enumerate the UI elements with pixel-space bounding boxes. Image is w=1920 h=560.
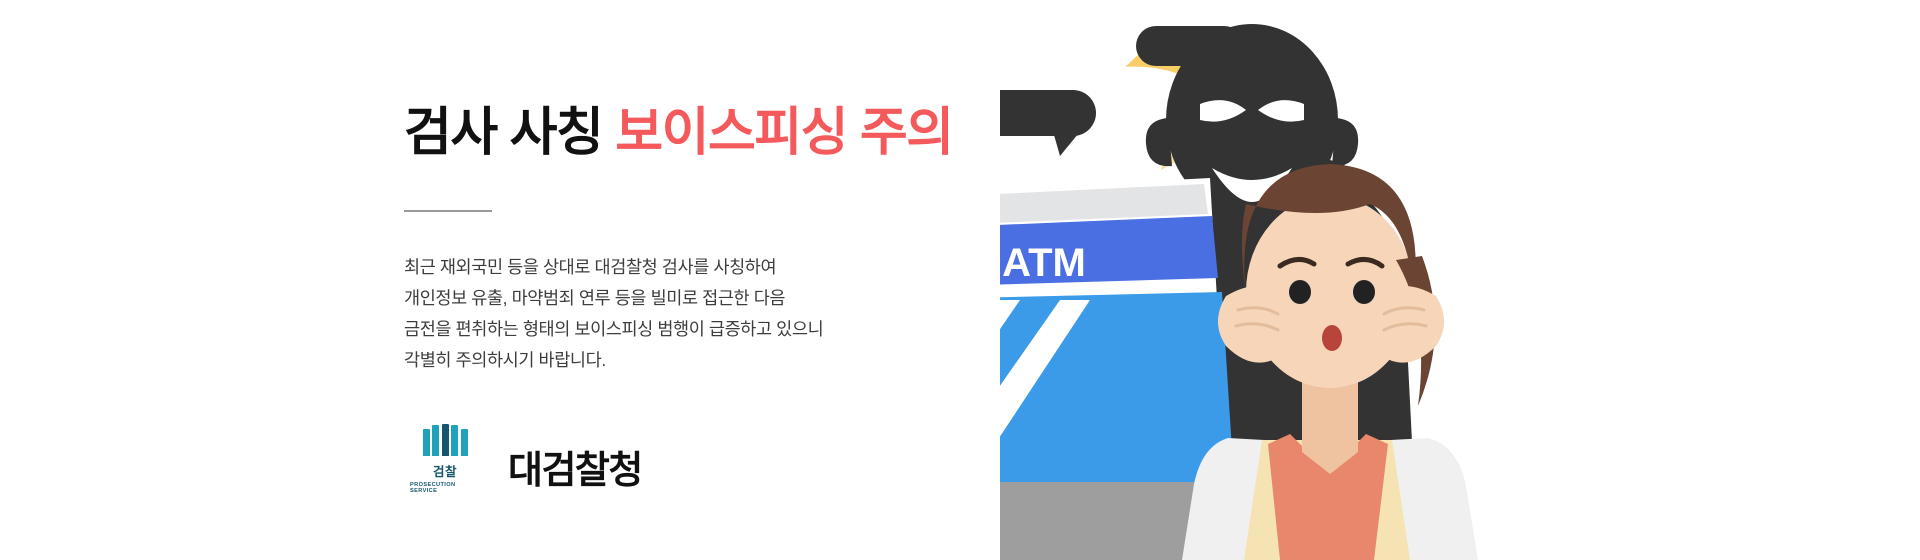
body-line-3: 금전을 편취하는 형태의 보이스피싱 범행이 급증하고 있으니 xyxy=(404,314,964,345)
body-line-1: 최근 재외국민 등을 상대로 대검찰청 검사를 사칭하여 xyxy=(404,252,964,283)
emblem-bars-icon xyxy=(423,424,468,456)
woman-eye-right xyxy=(1353,280,1375,304)
prosecution-service-logo: 검찰 PROSECUTION SERVICE 대검찰청 xyxy=(410,424,642,494)
divider xyxy=(404,210,492,212)
woman-eye-left xyxy=(1289,280,1311,304)
body-line-4: 각별히 주의하시기 바랍니다. xyxy=(404,345,964,376)
emblem-english-label: PROSECUTION SERVICE xyxy=(410,482,480,494)
illustration: ATM xyxy=(1000,0,1620,560)
atm-body xyxy=(1000,292,1234,482)
headline-dark-segment: 검사 사칭 xyxy=(404,104,602,162)
voice-phishing-warning-banner: 검사 사칭 보이스피싱 주의 최근 재외국민 등을 상대로 대검찰청 검사를 사… xyxy=(0,0,1920,560)
emblem-korean-label: 검찰 xyxy=(433,461,457,480)
headline-red-segment: 보이스피싱 주의 xyxy=(615,104,952,162)
page-title: 검사 사칭 보이스피싱 주의 xyxy=(404,104,964,164)
text-block: 검사 사칭 보이스피싱 주의 최근 재외국민 등을 상대로 대검찰청 검사를 사… xyxy=(404,104,964,376)
atm-label: ATM xyxy=(1002,241,1086,285)
woman-mouth xyxy=(1322,325,1342,351)
body-line-2: 개인정보 유출, 마약범죄 연루 등을 빌미로 접근한 다음 xyxy=(404,283,964,314)
emblem-icon: 검찰 PROSECUTION SERVICE xyxy=(410,424,480,494)
body-copy: 최근 재외국민 등을 상대로 대검찰청 검사를 사칭하여 개인정보 유출, 마약… xyxy=(404,252,964,377)
logo-wordmark: 대검찰청 xyxy=(508,452,642,494)
